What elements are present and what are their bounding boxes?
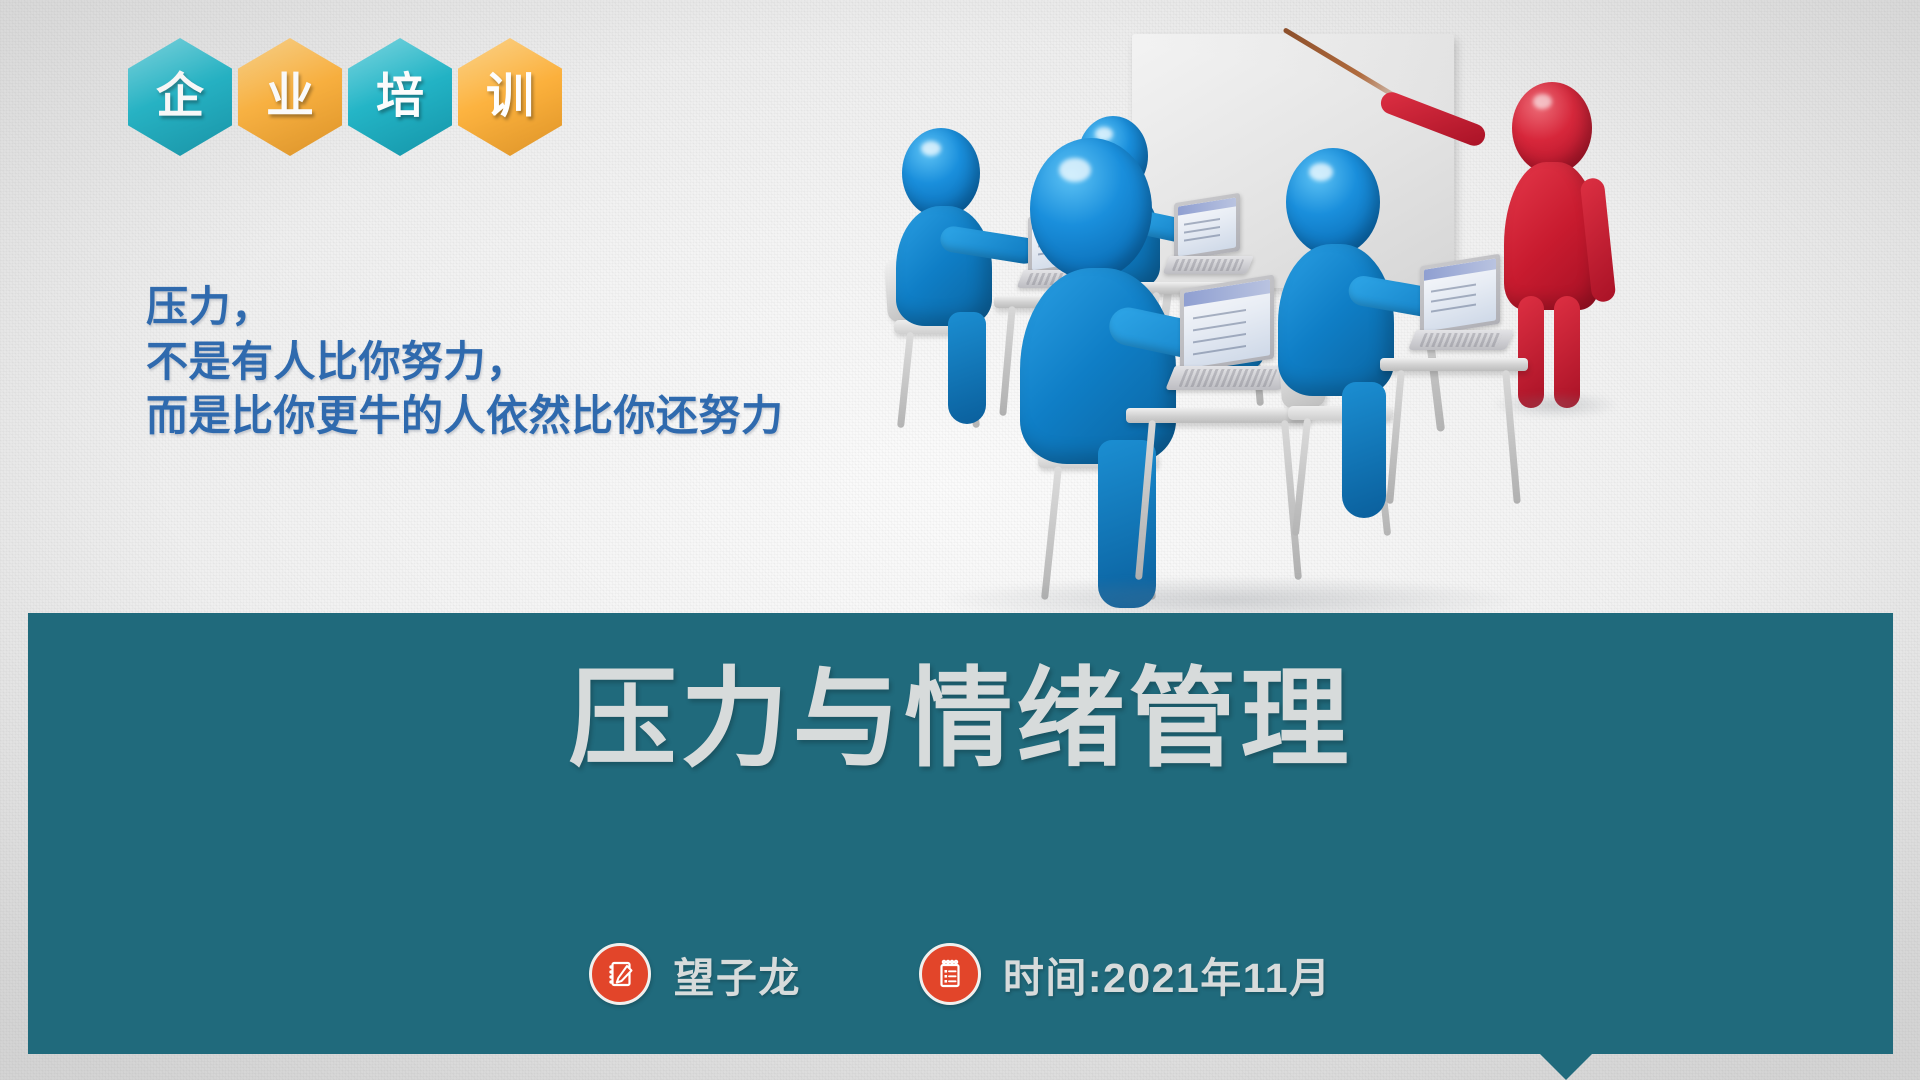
hex-badge-3-label: 培 [376, 73, 424, 121]
laptop-d-display [1424, 258, 1496, 331]
slide-canvas: 企 业 培 训 压力， 不是有人比你努力， 而是比你更牛的人依然比你还努力 [0, 0, 1920, 1080]
laptop-d-base [1408, 330, 1514, 350]
credit-date: 时间:2021年11月 [919, 943, 1332, 1005]
presenter-leg-left [1518, 296, 1544, 408]
credit-author-text: 望子龙 [673, 944, 801, 1004]
desk-d [1380, 358, 1528, 371]
credit-author: 望子龙 [589, 943, 801, 1005]
desk-leg-d1 [1386, 370, 1405, 504]
laptop-c-base [1165, 366, 1291, 390]
trainee-d-head [1286, 148, 1380, 256]
laptop-d-screen [1420, 254, 1500, 337]
notepad-pencil-icon [589, 943, 651, 1005]
tagline-line-3: 而是比你更牛的人依然比你还努力 [146, 389, 784, 444]
hex-badge-1-label: 企 [156, 73, 204, 121]
laptop-b-base [1162, 256, 1253, 274]
trainee-d-leg [1342, 382, 1386, 518]
trainee-a-leg [948, 312, 986, 424]
trainee-a-torso [896, 206, 992, 326]
laptop-b-screen [1174, 193, 1240, 261]
chair-leg-d1 [1292, 418, 1311, 536]
desk-leg-a1 [999, 306, 1016, 416]
hex-badge-2-label: 业 [266, 73, 314, 121]
classroom-illustration [880, 20, 1920, 630]
tagline-line-2: 不是有人比你努力， [146, 335, 784, 390]
credit-date-text: 时间:2021年11月 [1003, 944, 1332, 1004]
hex-badge-4: 训 [458, 38, 562, 156]
laptop-c-display [1184, 279, 1270, 369]
laptop-b-display [1178, 197, 1236, 256]
hex-badge-4-label: 训 [486, 73, 534, 121]
presenter-head [1512, 82, 1592, 174]
credits-row: 望子龙 时间: [28, 943, 1893, 1005]
page-title: 压力与情绪管理 [28, 665, 1893, 773]
trainee-a-head [902, 128, 980, 218]
band-notch-marker [1540, 1054, 1592, 1080]
tagline-line-1: 压力， [146, 280, 784, 335]
hex-badge-2: 业 [238, 38, 342, 156]
trainee-d-torso [1278, 244, 1394, 396]
chair-leg-a1 [897, 332, 914, 428]
hex-badge-3: 培 [348, 38, 452, 156]
hex-badge-1: 企 [128, 38, 232, 156]
tagline-block: 压力， 不是有人比你努力， 而是比你更牛的人依然比你还努力 [146, 280, 784, 444]
title-band: 压力与情绪管理 望子龙 [28, 613, 1893, 1054]
laptop-c-screen [1180, 275, 1274, 374]
hex-badge-row: 企 业 培 训 [128, 38, 562, 156]
notepad-list-icon [919, 943, 981, 1005]
trainee-c-head [1030, 138, 1152, 280]
